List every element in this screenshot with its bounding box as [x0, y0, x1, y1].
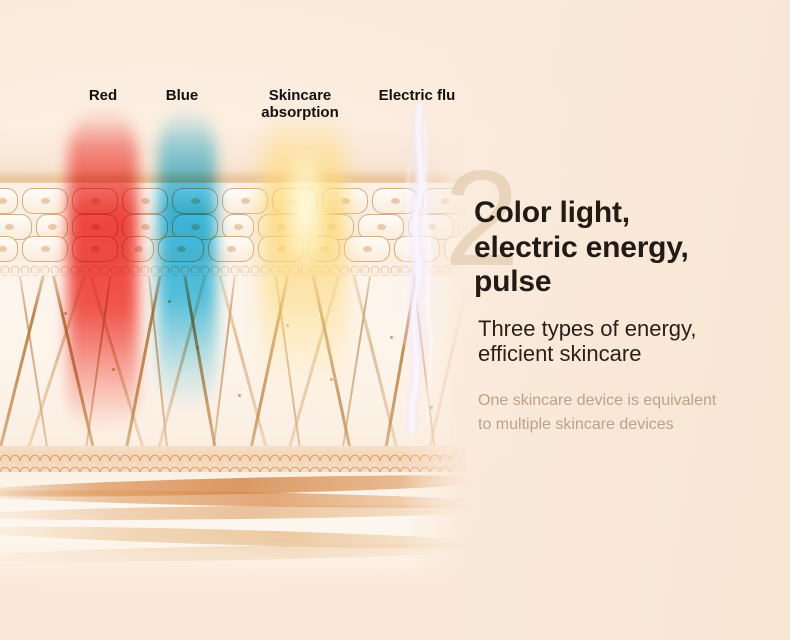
label-absorption: Skincare absorption: [250, 88, 350, 122]
basal-membrane-band: [0, 446, 468, 474]
epidermis-cell-row: [0, 188, 486, 214]
subheadline: Three types of energy, efficient skincar…: [478, 316, 784, 368]
body-copy: One skincare device is equivalent to mul…: [478, 389, 784, 435]
label-blue: Blue: [142, 88, 222, 105]
label-electric: Electric flu: [360, 88, 474, 105]
copy-block: Color light, electric energy, pulse Thre…: [474, 196, 784, 436]
hypodermis-fiber-bundles: [0, 472, 468, 580]
dermis-layer: [0, 276, 468, 451]
label-red: Red: [63, 88, 143, 105]
headline: Color light, electric energy, pulse: [474, 196, 784, 300]
surface-haze: [0, 128, 468, 174]
promo-banner: Red Blue Skincare absorption Electric fl…: [0, 0, 790, 640]
epidermis-layer: [0, 183, 468, 261]
skin-cross-section-illustration: [0, 128, 468, 578]
